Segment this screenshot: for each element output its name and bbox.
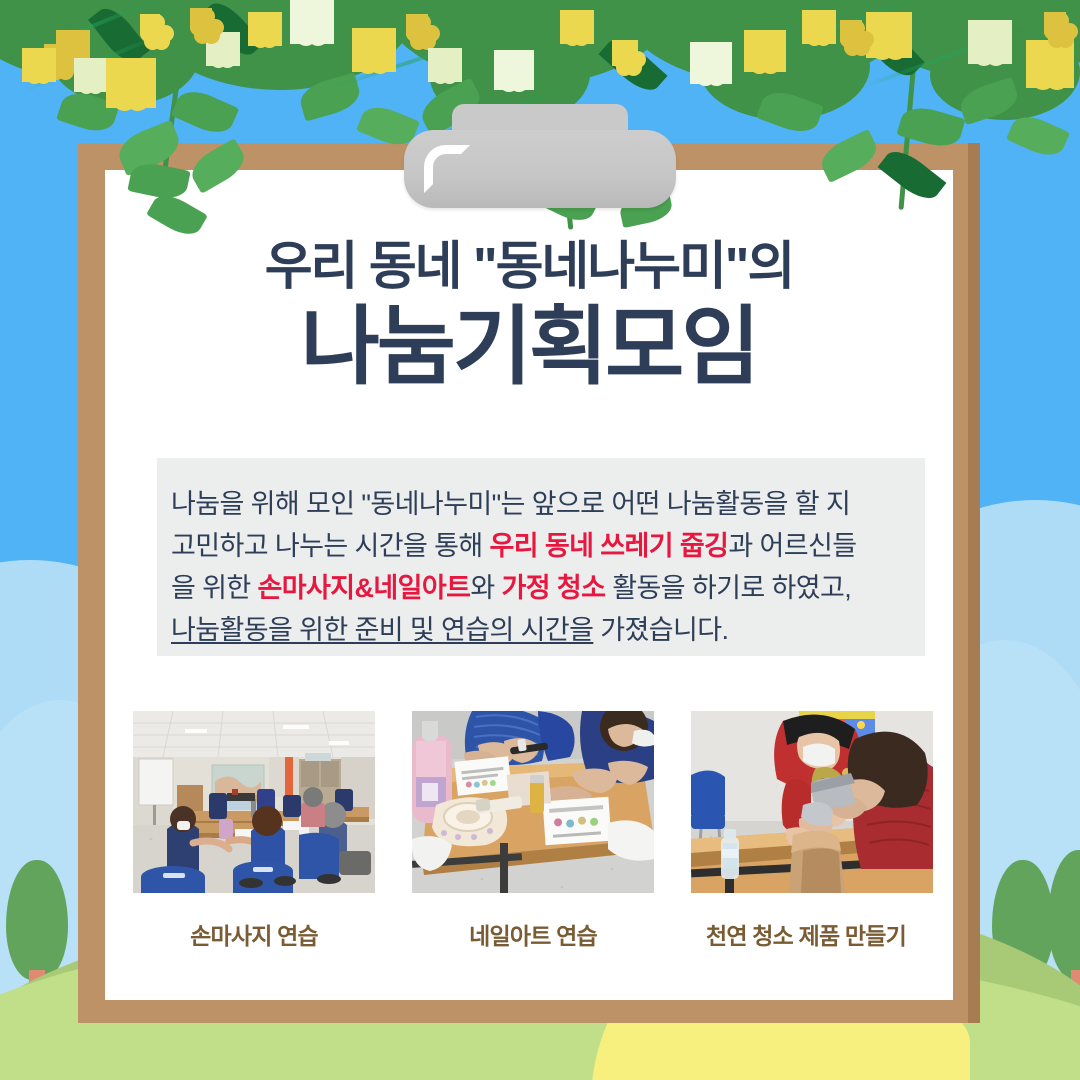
tree-crown bbox=[1048, 850, 1080, 980]
caption-nail-art: 네일아트 연습 bbox=[412, 917, 654, 951]
flower-icon bbox=[1044, 12, 1066, 34]
flower-icon bbox=[428, 48, 462, 82]
flower-icon bbox=[560, 10, 594, 44]
flower-icon bbox=[690, 42, 732, 84]
flower-icon bbox=[248, 12, 282, 46]
tree-crown bbox=[6, 860, 68, 980]
description-line-4: 나눔활동을 위한 준비 및 연습의 시간을 가졌습니다. bbox=[171, 610, 911, 652]
flower-icon bbox=[406, 14, 428, 36]
description-text: 고민하고 나누는 시간을 통해 bbox=[171, 531, 490, 561]
description-underlined: 나눔활동을 위한 준비 및 연습의 시간을 bbox=[171, 615, 593, 645]
description-line-1: 나눔을 위해 모인 "동네나누미"는 앞으로 어떤 나눔활동을 할 지 bbox=[171, 484, 911, 526]
description-text: 을 위한 bbox=[171, 573, 258, 603]
flower-icon bbox=[22, 48, 56, 82]
description-text: 와 bbox=[470, 573, 501, 603]
photo-hand-massage-image bbox=[133, 711, 375, 893]
description-text: 과 어르신들 bbox=[728, 531, 856, 561]
highlight-hand-massage-nail-art: 손마사지&네일아트 bbox=[258, 573, 471, 603]
photo-natural-cleaning[interactable] bbox=[691, 711, 933, 893]
page-title: 나눔기획모임 bbox=[105, 299, 953, 395]
leaf bbox=[816, 129, 882, 183]
flower-icon bbox=[744, 30, 786, 72]
description-text: 나눔을 위해 모인 "동네나누미"는 앞으로 어떤 나눔활동을 할 지 bbox=[171, 489, 850, 519]
flower-icon bbox=[140, 14, 160, 34]
photo-natural-cleaning-image bbox=[691, 711, 933, 893]
photo-hand-massage[interactable] bbox=[133, 711, 375, 893]
frame-shadow-edge bbox=[968, 143, 980, 1023]
photo-gallery bbox=[133, 711, 933, 893]
highlight-home-cleaning: 가정 청소 bbox=[502, 573, 606, 603]
clipboard-clip-highlight bbox=[424, 145, 470, 193]
caption-hand-massage: 손마사지 연습 bbox=[133, 917, 375, 951]
description-line-3: 을 위한 손마사지&네일아트와 가정 청소 활동을 하기로 하였고, bbox=[171, 568, 911, 610]
flower-icon bbox=[74, 58, 108, 92]
leaf-dark bbox=[878, 143, 947, 206]
leaf bbox=[171, 84, 240, 139]
poster-canvas: 우리 동네 "동네나누미"의 나눔기획모임 나눔을 위해 모인 "동네나누미"는… bbox=[0, 0, 1080, 1080]
highlight-trash-pickup: 우리 동네 쓰레기 줍깅 bbox=[490, 531, 729, 561]
photo-nail-art[interactable] bbox=[412, 711, 654, 893]
flower-icon bbox=[494, 50, 534, 90]
description-line-2: 고민하고 나누는 시간을 통해 우리 동네 쓰레기 줍깅과 어르신들 bbox=[171, 526, 911, 568]
description-text: 활동을 하기로 하였고, bbox=[605, 573, 851, 603]
caption-natural-cleaning: 천연 청소 제품 만들기 bbox=[676, 917, 936, 951]
flower-icon bbox=[352, 28, 396, 72]
photo-nail-art-image bbox=[412, 711, 654, 893]
flower-icon bbox=[612, 40, 638, 66]
leaf bbox=[186, 138, 250, 194]
flower-icon bbox=[106, 58, 156, 108]
title-block: 우리 동네 "동네나누미"의 나눔기획모임 bbox=[105, 238, 953, 396]
flower-icon bbox=[802, 10, 836, 44]
flower-icon bbox=[290, 0, 334, 44]
description-text: 가졌습니다. bbox=[593, 615, 728, 645]
flower-icon bbox=[190, 8, 212, 30]
flower-icon bbox=[840, 20, 862, 42]
page-subtitle: 우리 동네 "동네나누미"의 bbox=[105, 238, 953, 297]
description-box: 나눔을 위해 모인 "동네나누미"는 앞으로 어떤 나눔활동을 할 지 고민하고… bbox=[157, 458, 925, 656]
flower-icon bbox=[968, 20, 1012, 64]
